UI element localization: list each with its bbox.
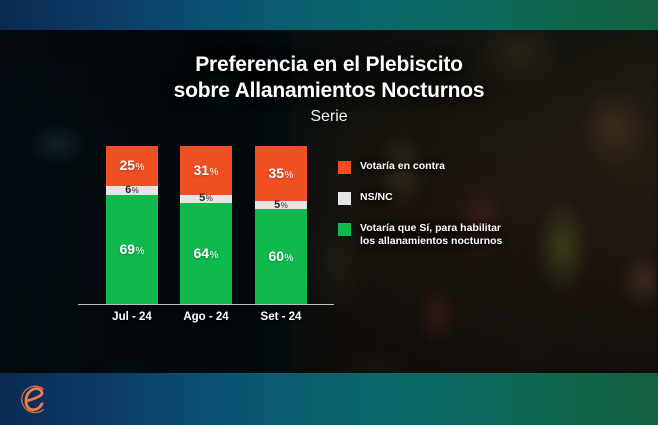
legend-swatch-icon [338,161,351,174]
bar-segment-yes[interactable]: 60% [255,209,307,304]
legend-label-line-1: NS/NC [360,191,393,203]
legend-item-against[interactable]: Votaría en contra [338,160,538,174]
bar-segment-label: 35% [268,166,293,181]
bar-segment-against[interactable]: 35% [255,146,307,201]
bottom-color-band [0,373,658,425]
bar-segment-nsnc[interactable]: 6% [106,186,158,195]
page-subtitle: Serie [0,108,658,126]
x-axis-line [78,304,334,305]
bar-group-ago-24[interactable]: 31% 5% 64% [180,146,232,304]
x-axis-label: Set - 24 [241,311,321,323]
legend-label-line-1: Votaría en contra [360,160,445,172]
legend-swatch-icon [338,192,351,205]
bar-segment-label: 64% [193,246,218,261]
bar-segment-label: 31% [193,163,218,178]
infographic-canvas: Preferencia en el Plebiscito sobre Allan… [0,0,658,425]
bar-segment-yes[interactable]: 69% [106,195,158,304]
legend-label: NS/NC [360,191,393,204]
bar-group-jul-24[interactable]: 25% 6% 69% [106,146,158,304]
top-color-band [0,0,658,30]
legend-item-yes[interactable]: Votaría que Sí, para habilitar los allan… [338,222,538,249]
stacked-bar-chart: 25% 6% 69% 31% 5% 64% 35% [78,146,334,304]
bar-segment-nsnc[interactable]: 5% [180,195,232,203]
x-axis-label: Ago - 24 [166,311,246,323]
bar-segment-against[interactable]: 31% [180,146,232,195]
bar-segment-label: 69% [119,242,144,257]
x-axis-label: Jul - 24 [92,311,172,323]
bar-segment-yes[interactable]: 64% [180,203,232,304]
bar-segment-against[interactable]: 25% [106,146,158,186]
bar-segment-label: 25% [119,158,144,173]
legend-item-nsnc[interactable]: NS/NC [338,191,538,205]
legend-label-line-2: los allanamientos nocturnos [360,235,502,248]
x-axis-labels: Jul - 24 Ago - 24 Set - 24 [78,311,334,327]
legend-swatch-icon [338,223,351,236]
el-observador-e-logo-icon [14,379,54,419]
legend-label-line-1: Votaría que Sí, para habilitar [360,222,501,234]
bar-segment-nsnc[interactable]: 5% [255,201,307,209]
legend-label: Votaría en contra [360,160,445,173]
legend-label: Votaría que Sí, para habilitar los allan… [360,222,502,249]
bar-group-set-24[interactable]: 35% 5% 60% [255,146,307,304]
bar-segment-label: 60% [268,249,293,264]
chart-legend: Votaría en contra NS/NC Votaría que Sí, … [338,160,538,266]
